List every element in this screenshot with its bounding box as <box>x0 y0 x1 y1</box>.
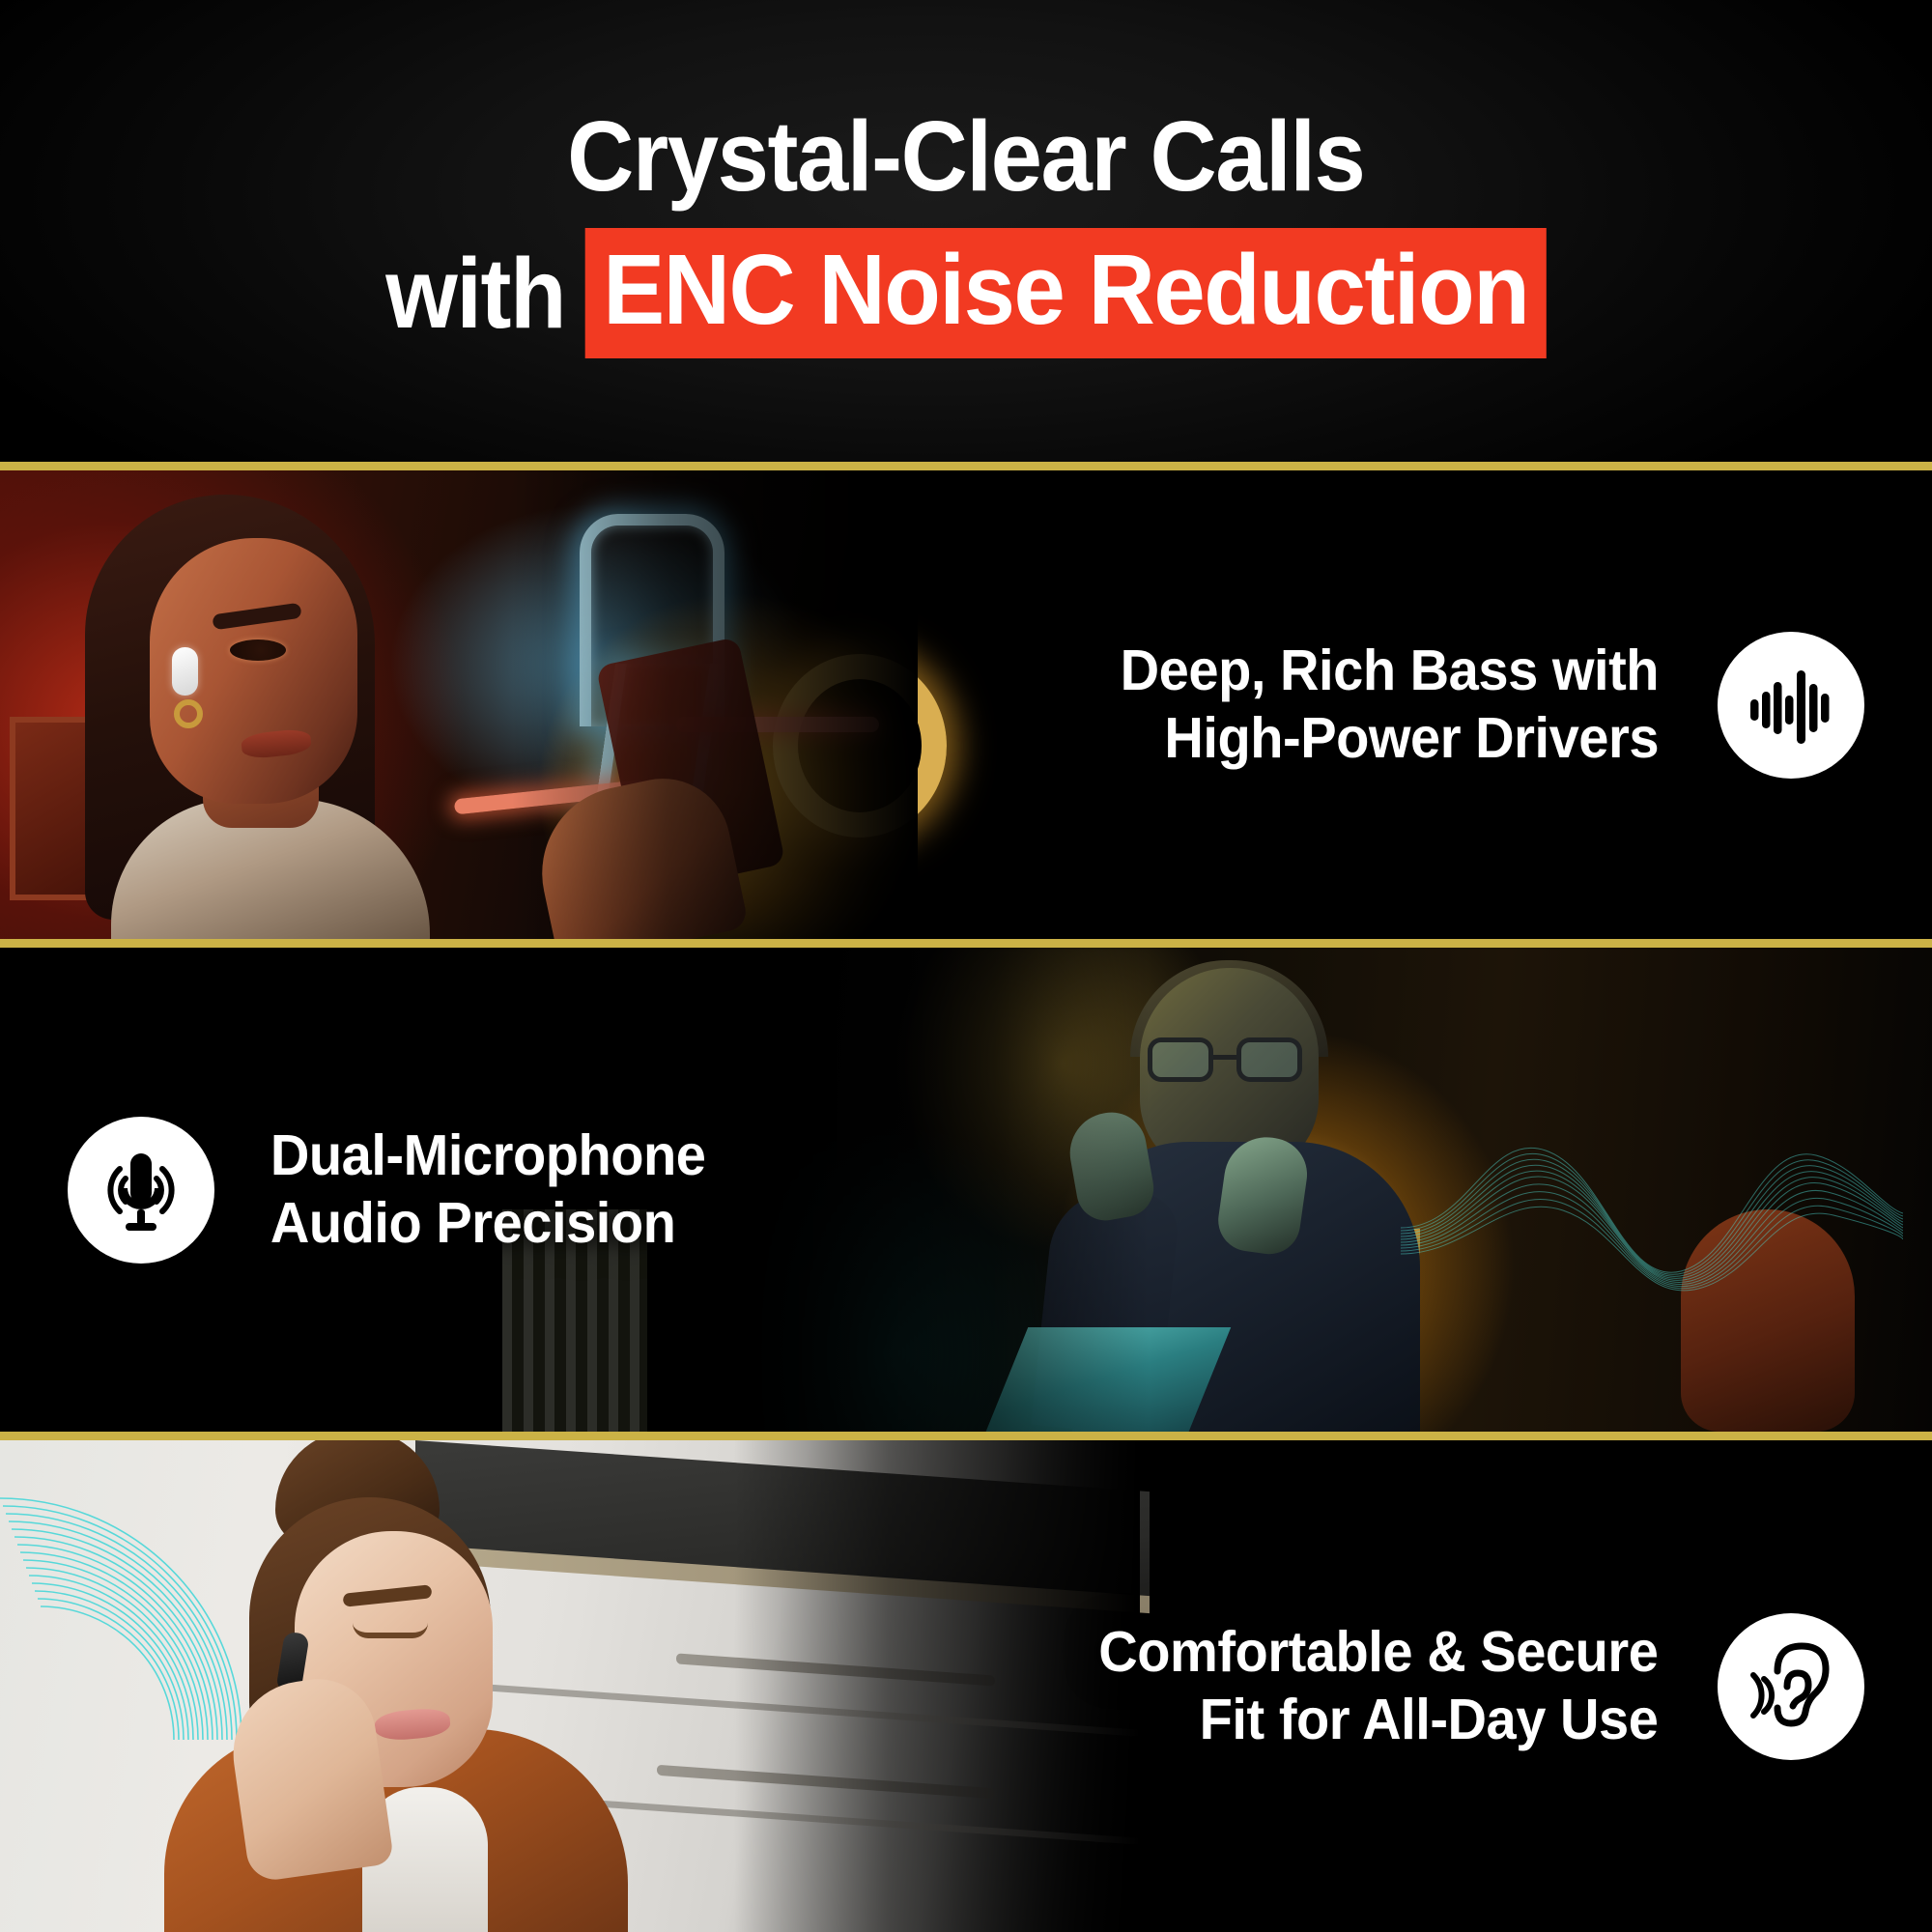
product-feature-infographic: Crystal-Clear Calls with ENC Noise Reduc… <box>0 0 1932 1932</box>
feature-panel-comfortable-fit: Comfortable & Secure Fit for All-Day Use <box>0 1432 1932 1932</box>
page-title-line-1: Crystal-Clear Calls <box>567 103 1364 209</box>
feature-caption-line-2: High-Power Drivers <box>1121 705 1659 773</box>
feature-caption-line-1: Comfortable & Secure <box>1099 1619 1659 1687</box>
page-title-prefix: with <box>385 241 584 346</box>
feature-caption: Dual-Microphone Audio Precision <box>270 1122 706 1257</box>
microphone-icon <box>68 1117 214 1264</box>
feature-block: Deep, Rich Bass with High-Power Drivers <box>1106 632 1864 779</box>
feature-content-dual-microphone: Dual-Microphone Audio Precision <box>0 948 1932 1432</box>
feature-caption-line-2: Audio Precision <box>270 1190 706 1258</box>
page-title-highlight-badge: ENC Noise Reduction <box>585 228 1547 358</box>
feature-caption: Deep, Rich Bass with High-Power Drivers <box>1121 638 1659 772</box>
feature-panel-deep-rich-bass: Deep, Rich Bass with High-Power Drivers <box>0 462 1932 939</box>
feature-content-comfortable-fit: Comfortable & Secure Fit for All-Day Use <box>0 1440 1932 1932</box>
ear-icon <box>1718 1613 1864 1760</box>
feature-caption-line-1: Dual-Microphone <box>270 1122 706 1190</box>
feature-caption-line-1: Deep, Rich Bass with <box>1121 638 1659 705</box>
header-banner: Crystal-Clear Calls with ENC Noise Reduc… <box>0 0 1932 462</box>
feature-caption: Comfortable & Secure Fit for All-Day Use <box>1099 1619 1659 1753</box>
page-title-line-2: with ENC Noise Reduction <box>385 228 1547 358</box>
feature-caption-line-2: Fit for All-Day Use <box>1099 1687 1659 1754</box>
feature-content-deep-rich-bass: Deep, Rich Bass with High-Power Drivers <box>0 470 1932 939</box>
feature-panel-dual-microphone: Dual-Microphone Audio Precision <box>0 939 1932 1432</box>
feature-block: Dual-Microphone Audio Precision <box>68 1117 717 1264</box>
feature-block: Comfortable & Secure Fit for All-Day Use <box>1084 1613 1864 1760</box>
sound-wave-icon <box>1718 632 1864 779</box>
